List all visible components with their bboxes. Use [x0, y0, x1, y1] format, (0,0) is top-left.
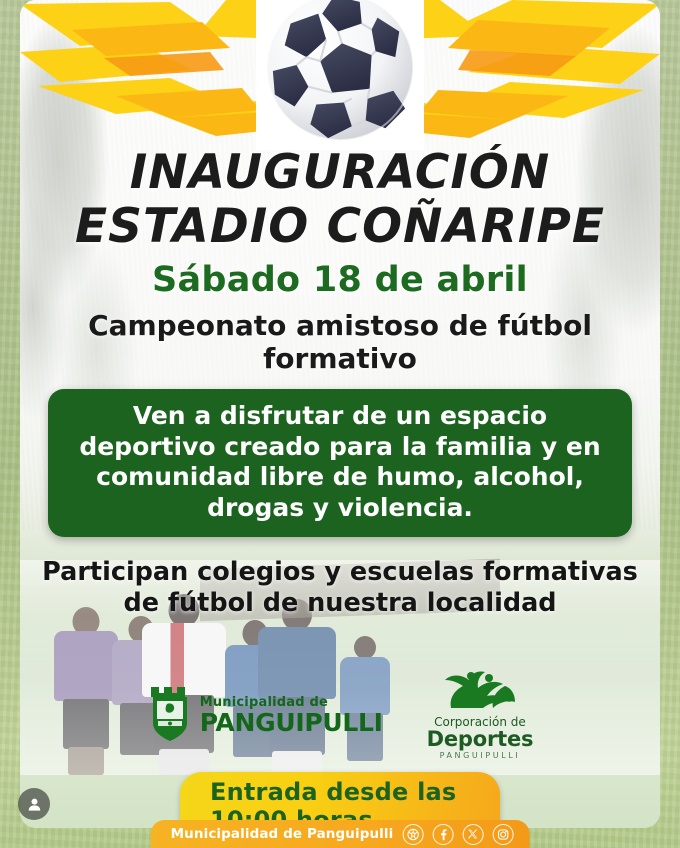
poster-title-line1: INAUGURACIÓN: [36, 150, 644, 196]
corporation-locality: PANGUIPULLI: [427, 752, 534, 760]
municipality-logo: Municipalidad de PANGUIPULLI: [147, 683, 383, 746]
facebook-icon[interactable]: [432, 824, 453, 845]
coat-of-arms-icon: [147, 683, 193, 746]
poster-card: INAUGURACIÓN ESTADIO COÑARIPE Sábado 18 …: [20, 0, 660, 828]
footer-social-bar: Municipalidad de Panguipulli: [151, 820, 530, 848]
person-avatar-icon[interactable]: [18, 788, 50, 820]
highlight-message-box: Ven a disfrutar de un espacio deportivo …: [48, 389, 632, 537]
poster-stage: INAUGURACIÓN ESTADIO COÑARIPE Sábado 18 …: [0, 0, 680, 848]
web-icon[interactable]: [402, 824, 423, 845]
municipality-name: PANGUIPULLI: [200, 708, 383, 737]
corporation-name: Deportes: [427, 729, 534, 750]
x-twitter-icon[interactable]: [462, 824, 483, 845]
event-date: Sábado 18 de abril: [36, 260, 644, 300]
footer-label: Municipalidad de Panguipulli: [171, 826, 394, 842]
participants-text: Participan colegios y escuelas formativa…: [36, 557, 644, 618]
corporation-logo: Corporación de Deportes PANGUIPULLI: [427, 668, 534, 760]
athletes-icon: [441, 699, 519, 716]
logo-row: Municipalidad de PANGUIPULLI Cor: [20, 668, 660, 760]
instagram-icon[interactable]: [492, 824, 513, 845]
poster-content: INAUGURACIÓN ESTADIO COÑARIPE Sábado 18 …: [20, 0, 660, 618]
poster-title-line2: ESTADIO COÑARIPE: [36, 204, 644, 250]
highlight-message-text: Ven a disfrutar de un espacio deportivo …: [62, 401, 618, 523]
event-subtitle: Campeonato amistoso de fútbol formativo: [36, 310, 644, 375]
